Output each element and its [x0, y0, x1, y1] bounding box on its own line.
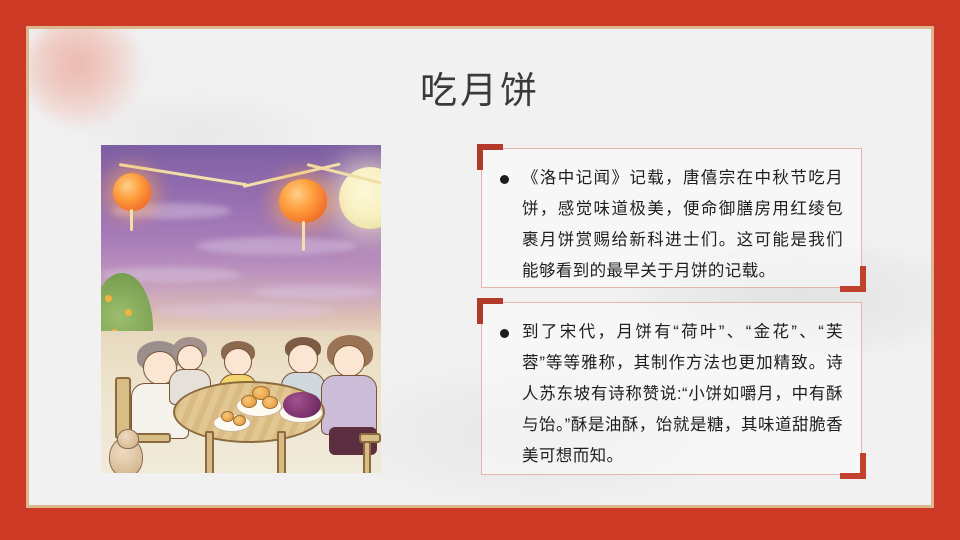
lantern-left-icon — [113, 173, 151, 211]
content-text-2: 到了宋代，月饼有“荷叶”、“金花”、“芙蓉”等等雅称，其制作方法也更加精致。诗人… — [522, 317, 843, 472]
corner-bracket-bottom-right-2 — [840, 453, 866, 479]
corner-bracket-bottom-right-1 — [840, 266, 866, 292]
page-title: 吃月饼 — [29, 71, 931, 112]
grapes — [283, 392, 321, 418]
table-leg-left — [205, 431, 214, 473]
bullet-dot-icon — [500, 175, 509, 184]
person-3-head — [224, 348, 252, 376]
slide-canvas: 吃月饼 — [29, 29, 931, 505]
content-text-1: 《洛中记闻》记载，唐僖宗在中秋节吃月饼，感觉味道极美，便命御膳房用红绫包裹月饼赏… — [522, 163, 843, 287]
bullet-item-1: 《洛中记闻》记载，唐僖宗在中秋节吃月饼，感觉味道极美，便命御膳房用红绫包裹月饼赏… — [498, 163, 843, 287]
person-4-head — [288, 344, 318, 374]
mooncake-2 — [241, 395, 257, 408]
cloud-2 — [196, 237, 356, 255]
content-box-1: 《洛中记闻》记载，唐僖宗在中秋节吃月饼，感觉味道极美，便命御膳房用红绫包裹月饼赏… — [481, 148, 862, 288]
cloud-5 — [156, 303, 336, 319]
content-box-2: 到了宋代，月饼有“荷叶”、“金花”、“芙蓉”等等雅称，其制作方法也更加精致。诗人… — [481, 302, 862, 475]
lantern-right-icon — [279, 179, 327, 223]
lantern-left-tassel — [130, 209, 133, 231]
person-5-head — [333, 345, 365, 377]
chair-right-leg — [363, 441, 371, 473]
illustration-mid-autumn-family — [101, 145, 381, 473]
bullet-dot-icon — [500, 329, 509, 338]
slide-root: 吃月饼 — [0, 0, 960, 540]
lantern-right-tassel — [302, 221, 305, 251]
dog-head — [117, 429, 139, 449]
mooncake-5 — [233, 415, 246, 426]
person-5-body — [321, 375, 377, 435]
person-2-head — [177, 345, 203, 371]
mooncake-3 — [262, 396, 278, 409]
corner-bracket-top-left-2 — [477, 298, 503, 324]
bullet-item-2: 到了宋代，月饼有“荷叶”、“金花”、“芙蓉”等等雅称，其制作方法也更加精致。诗人… — [498, 317, 843, 472]
table-leg-right — [277, 431, 286, 473]
cloud-4 — [251, 285, 381, 299]
corner-bracket-top-left-1 — [477, 144, 503, 170]
